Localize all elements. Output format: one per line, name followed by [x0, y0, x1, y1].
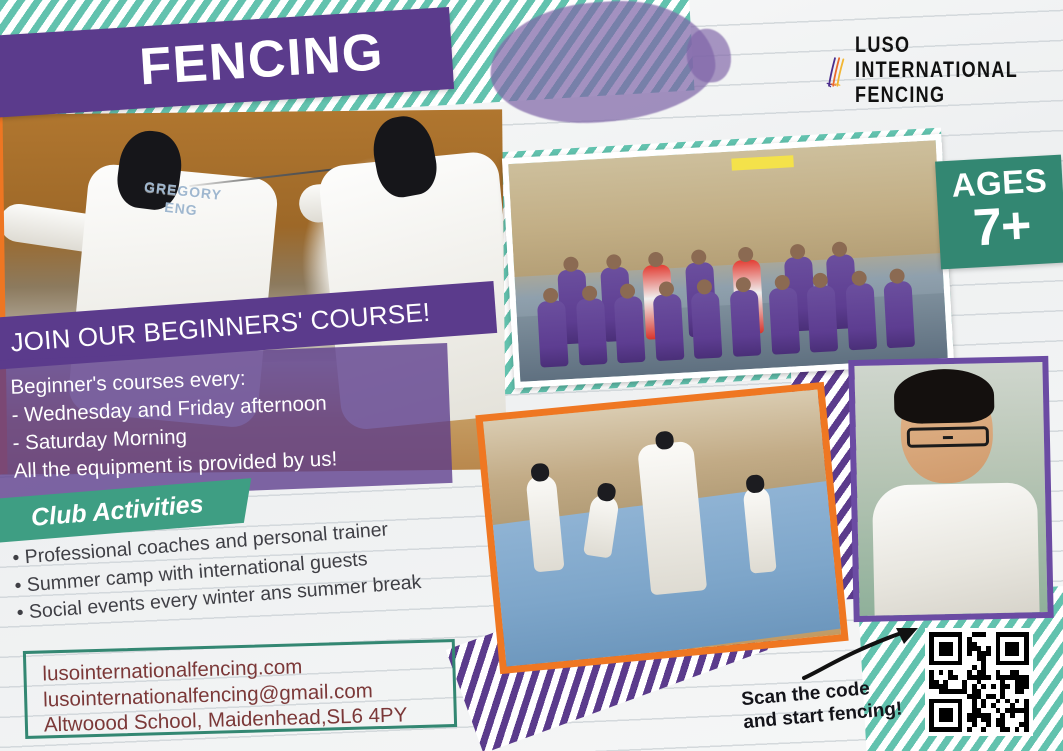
brand-line-2: INTERNATIONAL: [855, 57, 1018, 82]
photo-team-member: [614, 296, 646, 363]
poster-canvas: GREGORY ENG: [0, 0, 1063, 751]
photo-young-fencer-portrait: [848, 356, 1053, 622]
club-activities-heading: Club Activities: [30, 490, 204, 533]
qr-code-matrix: [929, 632, 1029, 732]
photo-team-member: [691, 291, 723, 358]
course-info-panel: Beginner's courses every: - Wednesday an…: [0, 343, 453, 501]
photo-team-member: [807, 285, 839, 352]
photo-portrait-jacket: [872, 482, 1040, 615]
brand-logo: LUSO INTERNATIONAL FENCING: [826, 22, 1054, 124]
ages-badge: AGES 7+: [935, 155, 1063, 270]
photo-team-member: [576, 298, 608, 365]
jacket-country: ENG: [164, 198, 199, 218]
page-title: FENCING: [138, 22, 386, 97]
photo-training-session: [475, 382, 848, 674]
crossed-swords-icon: [826, 22, 845, 122]
photo-team-member: [730, 289, 762, 356]
glasses-icon: [906, 426, 988, 448]
brand-line-3: FENCING: [855, 82, 1018, 107]
photo-team-member: [537, 300, 569, 367]
photo-team-member: [653, 294, 685, 361]
photo-team-member: [884, 281, 916, 348]
photo-team-group: [502, 134, 954, 388]
ages-value: 7+: [937, 197, 1063, 258]
photo-team-member: [845, 283, 877, 350]
photo-portrait-hair: [894, 368, 995, 424]
qr-code[interactable]: [925, 628, 1033, 736]
contact-details-box: lusointernationalfencing.com lusointerna…: [23, 639, 457, 739]
brand-name: LUSO INTERNATIONAL FENCING: [855, 22, 1018, 107]
photo-team-member: [768, 287, 800, 354]
brand-line-1: LUSO: [855, 32, 1018, 57]
